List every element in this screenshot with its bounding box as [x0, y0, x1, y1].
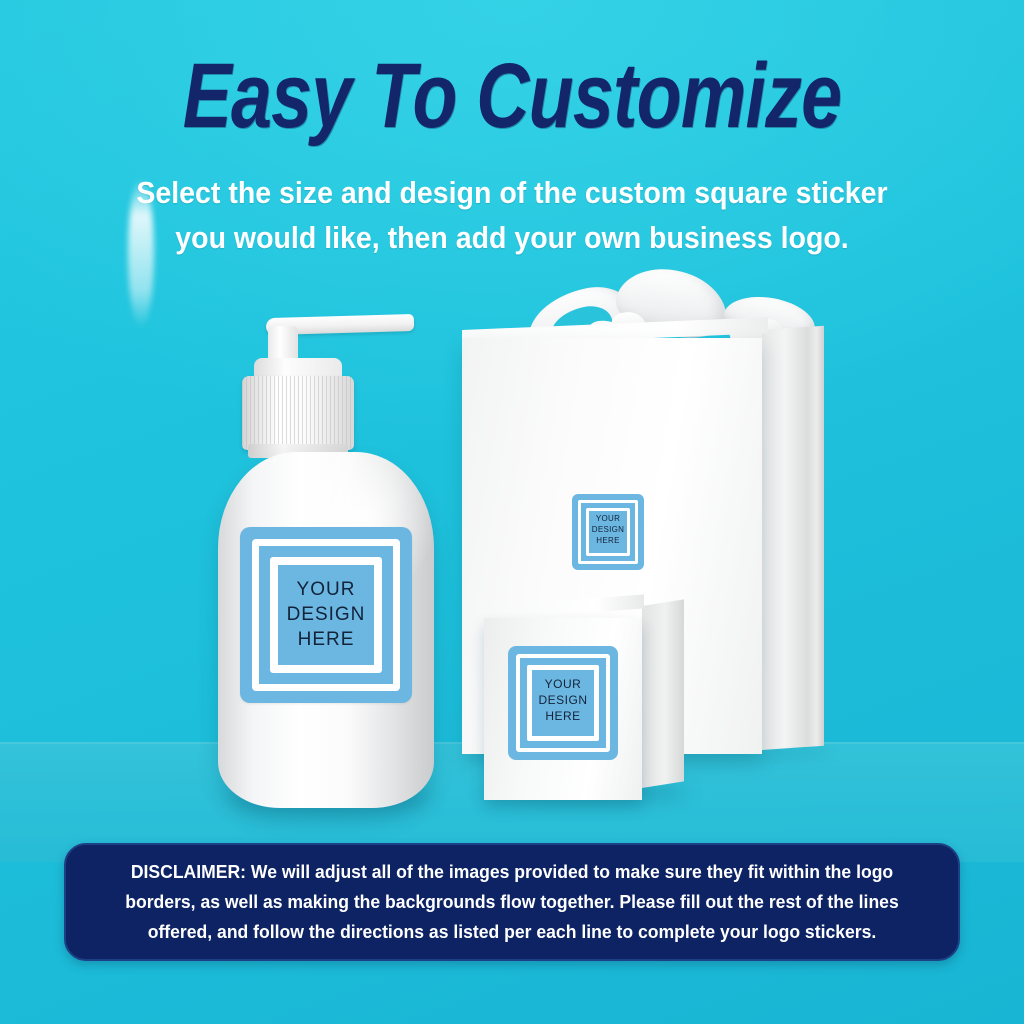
sticker-on-small-box: YOUR DESIGN HERE — [508, 646, 618, 760]
small-box-side — [642, 599, 684, 788]
sticker-label: YOUR DESIGN HERE — [240, 577, 412, 652]
page-subtitle: Select the size and design of the custom… — [129, 170, 894, 260]
promo-banner: Easy To Customize Select the size and de… — [0, 0, 1024, 1024]
page-title: Easy To Customize — [102, 48, 921, 144]
sticker-label: YOUR DESIGN HERE — [508, 676, 618, 724]
sticker-on-gift-box: YOUR DESIGN HERE — [572, 494, 644, 570]
disclaimer-label: DISCLAIMER: — [131, 861, 246, 882]
disclaimer-box: DISCLAIMER: We will adjust all of the im… — [64, 843, 960, 961]
bottle-highlight — [128, 178, 154, 328]
gift-box-side-back — [806, 326, 824, 747]
sticker-label: YOUR DESIGN HERE — [572, 513, 644, 546]
sticker-on-bottle: YOUR DESIGN HERE — [240, 527, 412, 703]
disclaimer-text: DISCLAIMER: We will adjust all of the im… — [88, 857, 935, 947]
pump-collar — [242, 376, 354, 450]
gift-box-side — [762, 327, 808, 750]
